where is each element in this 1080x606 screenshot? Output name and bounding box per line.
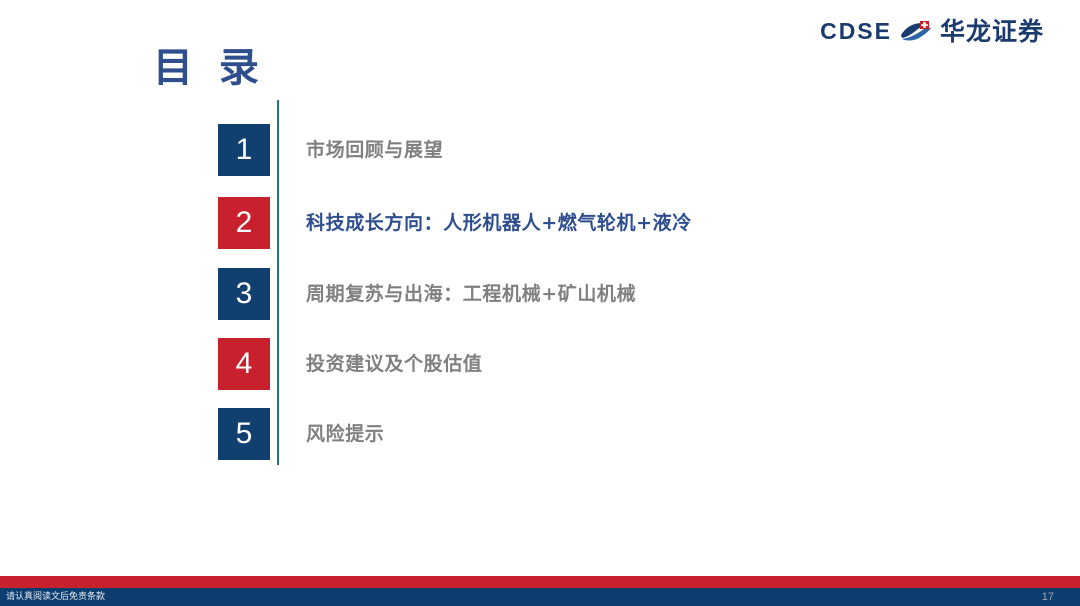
toc-item-5[interactable]: 5 风险提示 xyxy=(218,408,384,460)
wave-swoosh-icon xyxy=(899,17,933,45)
toc-item-label: 市场回顾与展望 xyxy=(306,139,443,162)
toc-item-4[interactable]: 4 投资建议及个股估值 xyxy=(218,338,482,390)
footer-disclaimer: 请认真阅读文后免责条款 xyxy=(6,590,105,604)
footer-bar: 请认真阅读文后免责条款 17 xyxy=(0,588,1080,606)
toc-number-badge: 5 xyxy=(218,408,270,460)
slide-canvas: CDSE 华龙证券 目 录 1 市场回顾与展望 2 科技成长方向：人形机器人+燃… xyxy=(0,0,1080,606)
footer-accent-band xyxy=(0,576,1080,588)
toc-number-badge: 4 xyxy=(218,338,270,390)
toc-item-3[interactable]: 3 周期复苏与出海：工程机械+矿山机械 xyxy=(218,268,636,320)
toc-number-badge: 2 xyxy=(218,197,270,249)
toc-item-2[interactable]: 2 科技成长方向：人形机器人+燃气轮机+液冷 xyxy=(218,197,692,249)
page-number: 17 xyxy=(1042,590,1054,604)
toc-number-badge: 3 xyxy=(218,268,270,320)
toc-item-1[interactable]: 1 市场回顾与展望 xyxy=(218,124,443,176)
toc-item-label: 周期复苏与出海：工程机械+矿山机械 xyxy=(306,283,636,306)
company-logo: CDSE 华龙证券 xyxy=(820,14,1044,48)
logo-text-en: CDSE xyxy=(820,20,892,43)
toc-number-badge: 1 xyxy=(218,124,270,176)
toc-item-label: 风险提示 xyxy=(306,423,384,446)
page-title: 目 录 xyxy=(153,44,265,92)
toc-item-label: 科技成长方向：人形机器人+燃气轮机+液冷 xyxy=(306,212,692,235)
toc-item-label: 投资建议及个股估值 xyxy=(306,353,482,376)
logo-text-cn: 华龙证券 xyxy=(940,19,1044,44)
